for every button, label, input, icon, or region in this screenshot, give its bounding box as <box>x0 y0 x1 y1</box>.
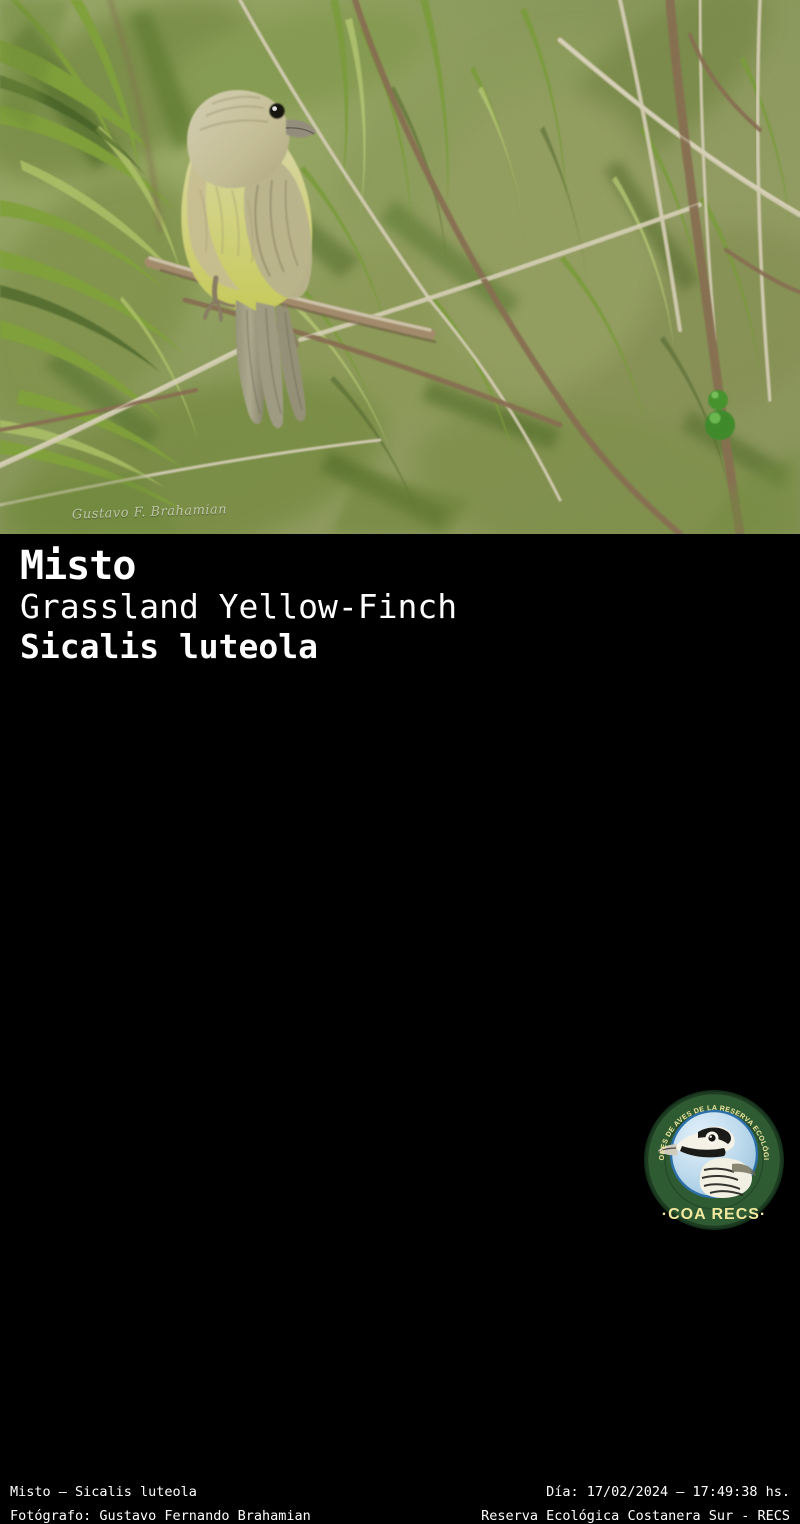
coa-recs-logo[interactable]: CLUB DE OBSERVADORES DE AVES DE LA RESER… <box>640 1086 788 1234</box>
photo-illustration <box>0 0 800 534</box>
species-name-block: Misto Grassland Yellow-Finch Sicalis lut… <box>20 546 457 667</box>
logo-bottom-text: ·COA RECS· <box>662 1206 767 1223</box>
footer-datetime-line: Día: 17/02/2024 — 17:49:38 hs. <box>546 1486 790 1500</box>
footer-species-line: Misto — Sicalis luteola <box>10 1486 197 1500</box>
coa-recs-logo-graphic: CLUB DE OBSERVADORES DE AVES DE LA RESER… <box>640 1086 788 1234</box>
species-caption-band: Misto Grassland Yellow-Finch Sicalis lut… <box>0 534 800 734</box>
scientific-name: Sicalis luteola <box>20 627 457 667</box>
footer-photographer-line: Fotógrafo: Gustavo Fernando Brahamian <box>10 1510 311 1524</box>
metadata-footer: Misto — Sicalis luteola Fotógrafo: Gusta… <box>0 734 800 800</box>
photo-caption-card: Gustavo F. Brahamian Misto Grassland Yel… <box>0 0 800 800</box>
english-name: Grassland Yellow-Finch <box>20 587 457 627</box>
common-name: Misto <box>20 546 457 587</box>
bird-photograph: Gustavo F. Brahamian <box>0 0 800 534</box>
footer-location-line: Reserva Ecológica Costanera Sur - RECS <box>481 1510 790 1524</box>
